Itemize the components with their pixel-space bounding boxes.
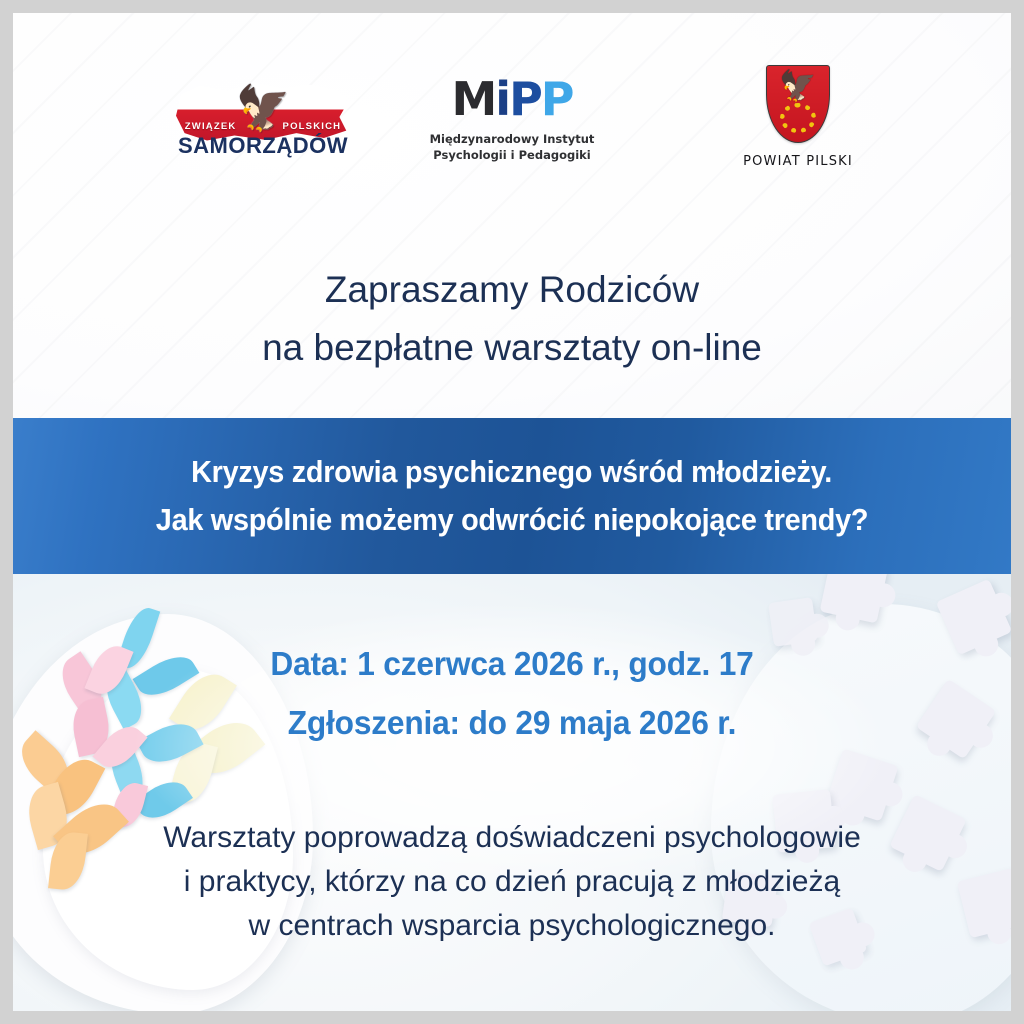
signup-deadline: Zgłoszenia: do 29 maja 2026 r. [33, 693, 991, 752]
logo-zwiazek-polskich-samorzadow: 🦅 ZWIĄZEK POLSKICH SAMORZĄDÓW [168, 71, 358, 153]
logo-mipp: MiPP Międzynarodowy Instytut Psychologii… [417, 75, 607, 163]
poland-map-flag-icon: 🦅 ZWIĄZEK POLSKICH SAMORZĄDÓW [168, 71, 358, 153]
details-section: Data: 1 czerwca 2026 r., godz. 17 Zgłosz… [13, 574, 1011, 1011]
logo-zps-main-text: SAMORZĄDÓW [168, 133, 358, 159]
mipp-wordmark-icon: MiPP [417, 75, 607, 123]
mipp-subtitle: Międzynarodowy Instytut Psychologii i Pe… [417, 131, 607, 163]
logo-powiat-pilski: 🦅 POWIAT PILSKI [703, 65, 893, 169]
logo-zps-upper-text: ZWIĄZEK POLSKICH [168, 121, 358, 132]
mipp-letter-m: M [452, 72, 496, 126]
eagle-icon: 🦅 [779, 72, 816, 102]
header-section: 🦅 ZWIĄZEK POLSKICH SAMORZĄDÓW MiPP Międz… [13, 13, 1011, 418]
banner-line-1: Kryzys zdrowia psychicznego wśród młodzi… [192, 448, 833, 496]
mipp-letter-p2: P [541, 72, 573, 126]
invitation-line-1: Zapraszamy Rodziców [13, 261, 1011, 319]
poster: 🦅 ZWIĄZEK POLSKICH SAMORZĄDÓW MiPP Międz… [13, 13, 1011, 1011]
event-details: Data: 1 czerwca 2026 r., godz. 17 Zgłosz… [33, 634, 991, 752]
description-text: Warsztaty poprowadzą doświadczeni psycho… [13, 816, 1011, 948]
description-line-2: i praktycy, którzy na co dzień pracują z… [13, 860, 1011, 904]
mipp-subtitle-line1: Międzynarodowy Instytut [417, 131, 607, 147]
coat-of-arms-icon: 🦅 [766, 65, 830, 143]
powiat-pilski-label: POWIAT PILSKI [703, 154, 893, 169]
description-line-3: w centrach wsparcia psychologicznego. [13, 904, 1011, 948]
invitation-heading: Zapraszamy Rodziców na bezpłatne warszta… [13, 261, 1011, 377]
mipp-subtitle-line2: Psychologii i Pedagogiki [417, 147, 607, 163]
wreath-icon [780, 103, 816, 133]
event-date: Data: 1 czerwca 2026 r., godz. 17 [33, 634, 991, 693]
mipp-letter-p1: P [509, 72, 541, 126]
logo-row: 🦅 ZWIĄZEK POLSKICH SAMORZĄDÓW MiPP Międz… [13, 61, 1011, 211]
title-banner: Kryzys zdrowia psychicznego wśród młodzi… [13, 418, 1011, 574]
description-line-1: Warsztaty poprowadzą doświadczeni psycho… [13, 816, 1011, 860]
mipp-letter-i: i [495, 72, 509, 126]
invitation-line-2: na bezpłatne warsztaty on-line [13, 319, 1011, 377]
banner-line-2: Jak wspólnie możemy odwrócić niepokojące… [156, 496, 868, 544]
